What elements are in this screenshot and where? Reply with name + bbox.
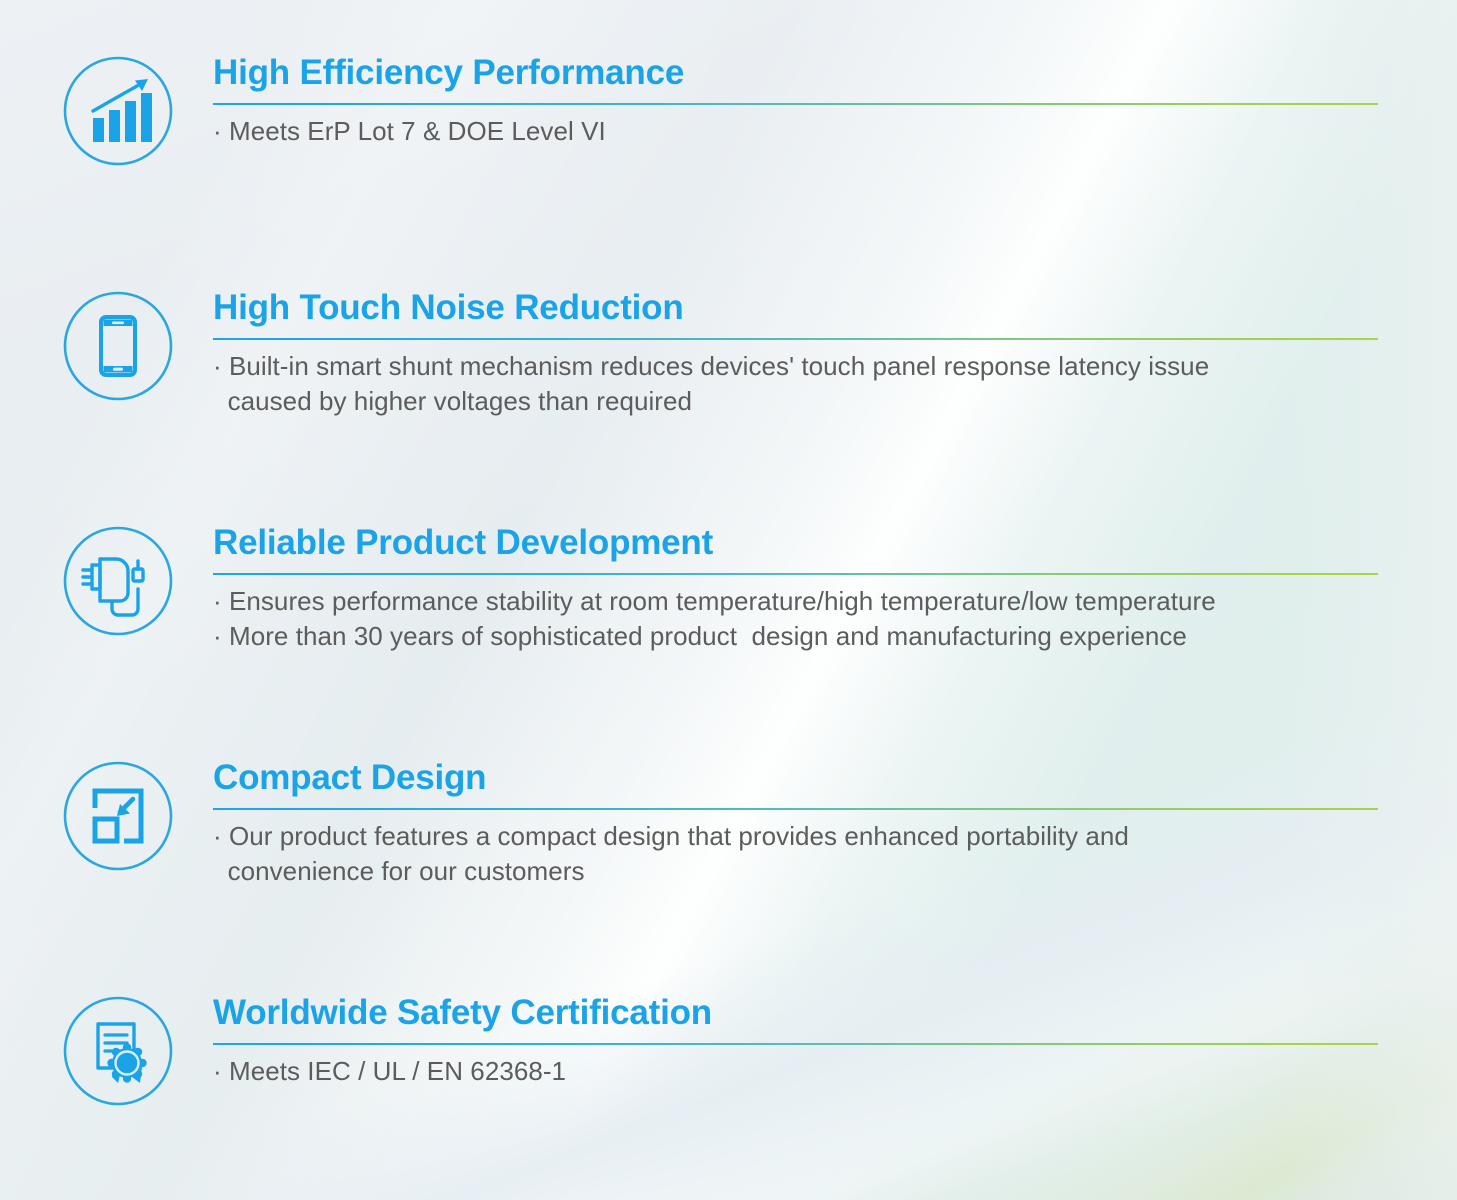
feature-bullet: caused by higher voltages than required	[213, 384, 1383, 419]
feature-divider	[213, 338, 1378, 340]
feature-bullet: · More than 30 years of sophisticated pr…	[213, 619, 1383, 654]
feature-title: High Efficiency Performance	[213, 55, 1383, 92]
feature-bullets: · Meets IEC / UL / EN 62368-1	[213, 1054, 1383, 1089]
feature-bullet: · Ensures performance stability at room …	[213, 584, 1383, 619]
compact-resize-icon	[62, 760, 174, 872]
feature-bullets: · Our product features a compact design …	[213, 819, 1383, 890]
feature-title: High Touch Noise Reduction	[213, 290, 1383, 327]
feature-bullet: · Built-in smart shunt mechanism reduces…	[213, 349, 1383, 384]
feature-body: Reliable Product Development · Ensures p…	[213, 525, 1383, 654]
feature-body: Worldwide Safety Certification · Meets I…	[213, 995, 1383, 1089]
feature-bullets: · Built-in smart shunt mechanism reduces…	[213, 349, 1383, 420]
feature-divider	[213, 1043, 1378, 1045]
feature-highlights-page: High Efficiency Performance · Meets ErP …	[0, 0, 1457, 1200]
power-adapter-icon	[62, 525, 174, 637]
feature-title: Compact Design	[213, 760, 1383, 797]
feature-title: Reliable Product Development	[213, 525, 1383, 562]
feature-divider	[213, 103, 1378, 105]
feature-divider	[213, 808, 1378, 810]
certificate-seal-icon	[62, 995, 174, 1107]
feature-bullet: · Meets IEC / UL / EN 62368-1	[213, 1054, 1383, 1089]
feature-body: High Touch Noise Reduction · Built-in sm…	[213, 290, 1383, 419]
feature-bullet: · Meets ErP Lot 7 & DOE Level VI	[213, 114, 1383, 149]
smartphone-icon	[62, 290, 174, 402]
feature-body: Compact Design · Our product features a …	[213, 760, 1383, 889]
bar-chart-growth-icon	[62, 55, 174, 167]
feature-bullets: · Meets ErP Lot 7 & DOE Level VI	[213, 114, 1383, 149]
feature-bullets: · Ensures performance stability at room …	[213, 584, 1383, 655]
feature-title: Worldwide Safety Certification	[213, 995, 1383, 1032]
feature-divider	[213, 573, 1378, 575]
feature-bullet: · Our product features a compact design …	[213, 819, 1383, 854]
feature-bullet: convenience for our customers	[213, 854, 1383, 889]
feature-body: High Efficiency Performance · Meets ErP …	[213, 55, 1383, 149]
